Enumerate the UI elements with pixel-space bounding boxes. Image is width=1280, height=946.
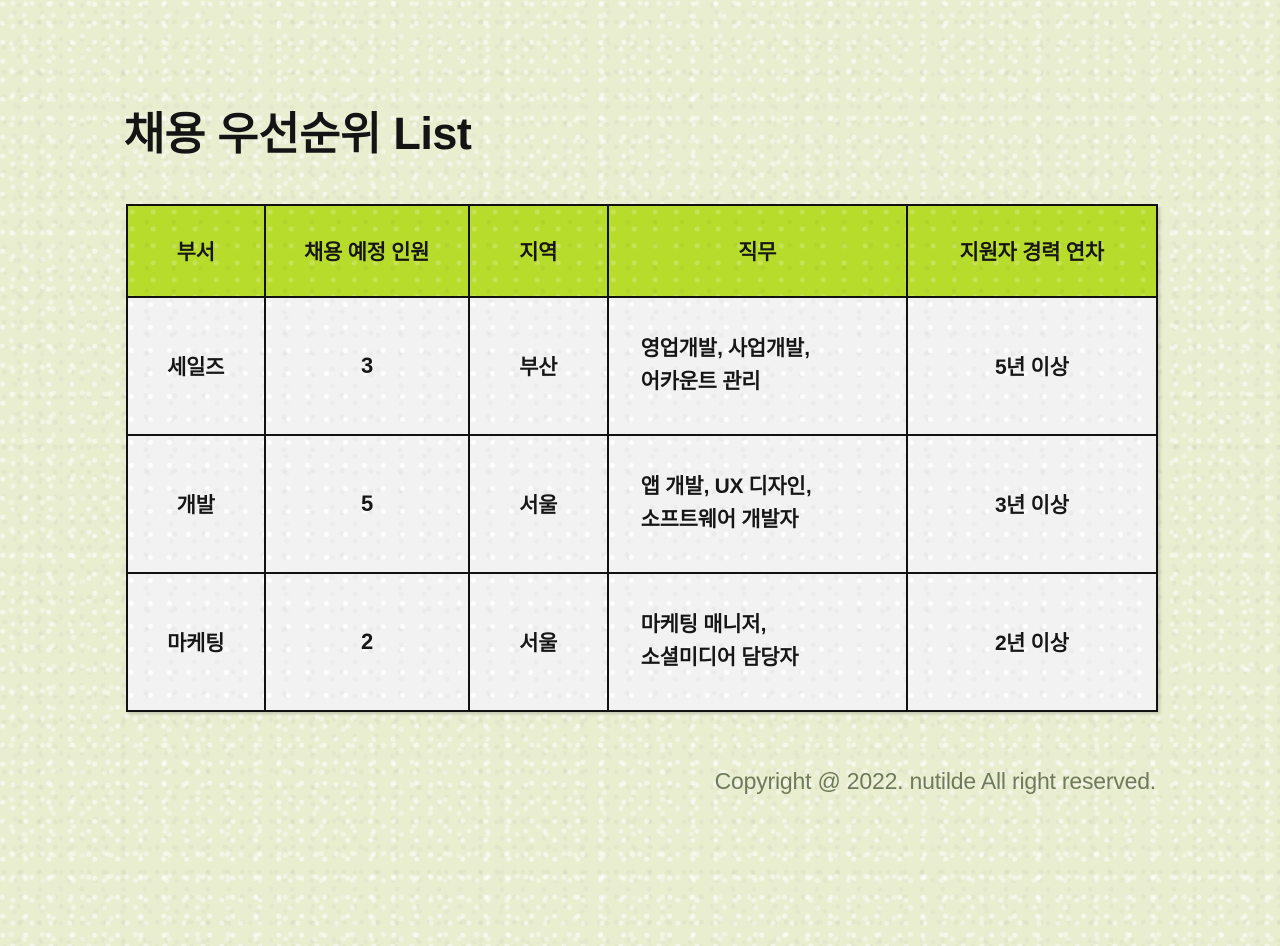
- cell-experience: 5년 이상: [907, 297, 1157, 435]
- cell-role: 앱 개발, UX 디자인, 소프트웨어 개발자: [608, 435, 907, 573]
- cell-department: 마케팅: [127, 573, 265, 711]
- table-body: 세일즈 3 부산 영업개발, 사업개발, 어카운트 관리 5년 이상 개발 5 …: [127, 297, 1157, 711]
- column-header-experience: 지원자 경력 연차: [907, 205, 1157, 297]
- page-title: 채용 우선순위 List: [124, 108, 471, 160]
- cell-role-line: 앱 개발, UX 디자인,: [641, 471, 900, 504]
- cell-location: 부산: [469, 297, 608, 435]
- table-row: 개발 5 서울 앱 개발, UX 디자인, 소프트웨어 개발자 3년 이상: [127, 435, 1157, 573]
- cell-experience: 3년 이상: [907, 435, 1157, 573]
- cell-role-line: 영업개발, 사업개발,: [641, 333, 900, 366]
- cell-role-line: 소프트웨어 개발자: [641, 504, 900, 537]
- column-header-location: 지역: [469, 205, 608, 297]
- cell-role-line: 소셜미디어 담당자: [641, 642, 900, 675]
- table-header: 부서 채용 예정 인원 지역 직무 지원자 경력 연차: [127, 205, 1157, 297]
- table-header-row: 부서 채용 예정 인원 지역 직무 지원자 경력 연차: [127, 205, 1157, 297]
- cell-location: 서울: [469, 573, 608, 711]
- column-header-headcount: 채용 예정 인원: [265, 205, 469, 297]
- cell-headcount: 5: [265, 435, 469, 573]
- hiring-priority-table: 부서 채용 예정 인원 지역 직무 지원자 경력 연차 세일즈 3 부산 영업개…: [126, 204, 1158, 712]
- slide-canvas: 채용 우선순위 List 부서 채용 예정 인원 지역 직무 지원자 경력 연차…: [0, 0, 1280, 946]
- table-row: 마케팅 2 서울 마케팅 매니저, 소셜미디어 담당자 2년 이상: [127, 573, 1157, 711]
- column-header-department: 부서: [127, 205, 265, 297]
- cell-location: 서울: [469, 435, 608, 573]
- cell-experience: 2년 이상: [907, 573, 1157, 711]
- copyright-notice: Copyright @ 2022. nutilde All right rese…: [0, 768, 1156, 795]
- column-header-role: 직무: [608, 205, 907, 297]
- cell-role: 마케팅 매니저, 소셜미디어 담당자: [608, 573, 907, 711]
- cell-headcount: 2: [265, 573, 469, 711]
- cell-role-line: 마케팅 매니저,: [641, 609, 900, 642]
- cell-department: 세일즈: [127, 297, 265, 435]
- table-row: 세일즈 3 부산 영업개발, 사업개발, 어카운트 관리 5년 이상: [127, 297, 1157, 435]
- cell-headcount: 3: [265, 297, 469, 435]
- cell-department: 개발: [127, 435, 265, 573]
- cell-role-line: 어카운트 관리: [641, 366, 900, 399]
- cell-role: 영업개발, 사업개발, 어카운트 관리: [608, 297, 907, 435]
